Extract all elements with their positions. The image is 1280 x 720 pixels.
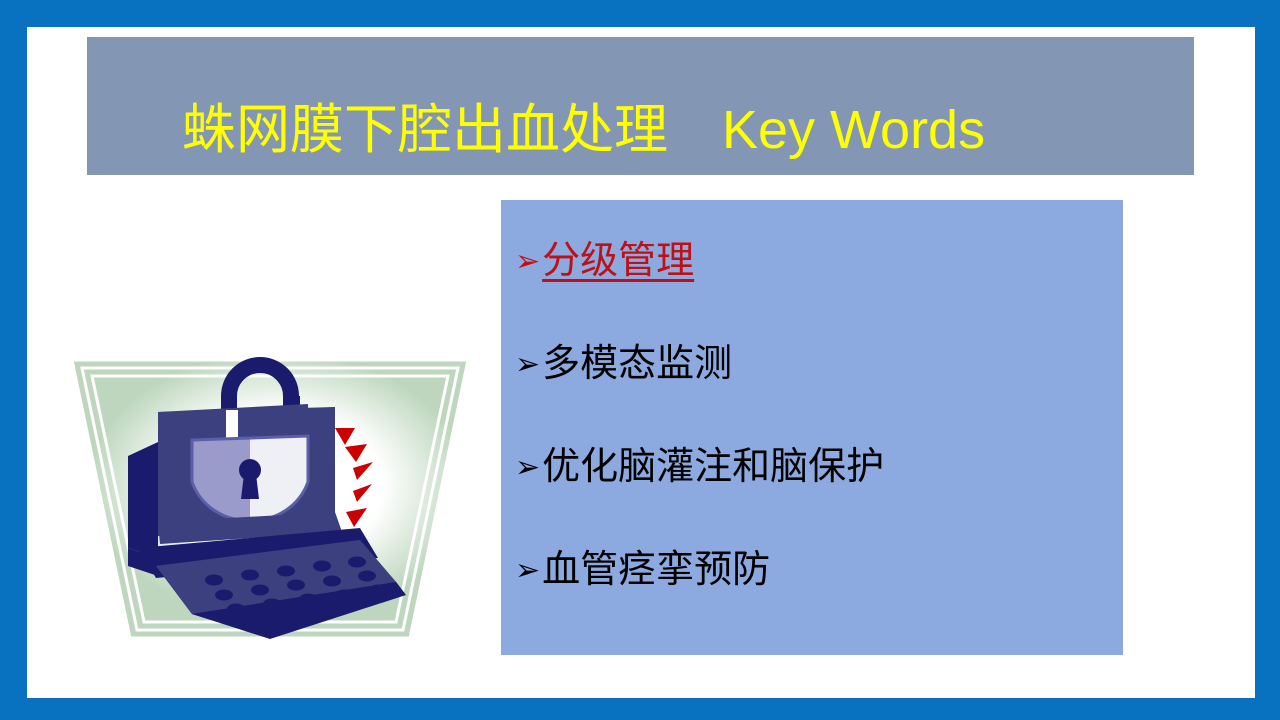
arrow-bullet-icon: ➢ <box>515 445 540 491</box>
slide-border-top <box>0 0 1280 27</box>
key-words-panel: ➢ 分级管理 ➢ 多模态监测 ➢ 优化脑灌注和脑保护 ➢ 血管痉挛预防 <box>501 200 1123 655</box>
list-item-label: 分级管理 <box>542 238 694 284</box>
slide-canvas: 蛛网膜下腔出血处理 Key Words <box>0 0 1280 720</box>
arrow-bullet-icon: ➢ <box>515 239 540 285</box>
list-item-label: 多模态监测 <box>542 341 732 387</box>
list-item-label: 血管痉挛预防 <box>542 547 770 593</box>
list-item[interactable]: ➢ 优化脑灌注和脑保护 <box>515 444 1115 547</box>
computer-lock-illustration <box>60 352 480 647</box>
list-item[interactable]: ➢ 血管痉挛预防 <box>515 547 1115 650</box>
slide-title: 蛛网膜下腔出血处理 Key Words <box>182 99 985 161</box>
key-words-list: ➢ 分级管理 ➢ 多模态监测 ➢ 优化脑灌注和脑保护 ➢ 血管痉挛预防 <box>515 238 1115 650</box>
slide-border-left <box>0 0 27 720</box>
monitor-side <box>128 442 158 558</box>
arrow-bullet-icon: ➢ <box>515 342 540 388</box>
slide-border-right <box>1255 0 1280 720</box>
slide-border-bottom <box>0 698 1280 720</box>
lock-shield <box>192 436 308 520</box>
list-item[interactable]: ➢ 多模态监测 <box>515 341 1115 444</box>
list-item-label: 优化脑灌注和脑保护 <box>542 444 884 490</box>
arrow-bullet-icon: ➢ <box>515 548 540 594</box>
list-item[interactable]: ➢ 分级管理 <box>515 238 1115 341</box>
title-banner: 蛛网膜下腔出血处理 Key Words <box>87 37 1194 175</box>
